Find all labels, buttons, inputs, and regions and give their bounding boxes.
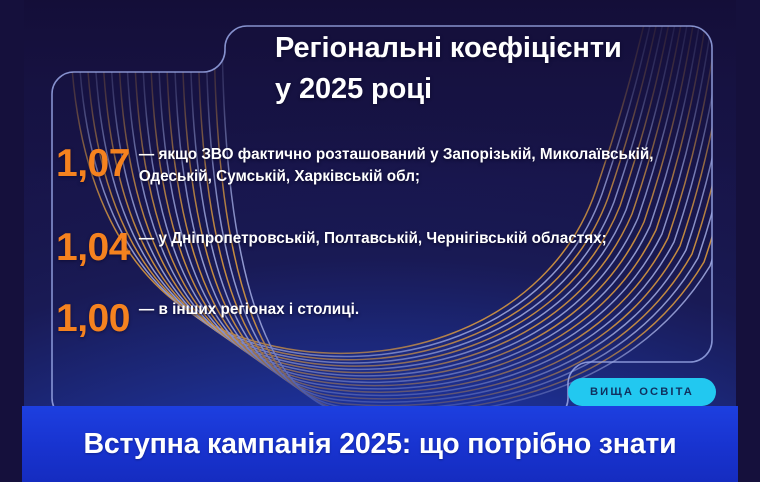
right-dark-edge bbox=[736, 0, 760, 482]
coefficient-description: — в інших регіонах і столиці. bbox=[139, 301, 359, 318]
infographic-root: Регіональні коефіцієнти у 2025 році 1,07… bbox=[0, 0, 760, 482]
headline-line-1: Регіональні коефіцієнти bbox=[275, 28, 715, 69]
coefficient-row: 1,07 — якщо ЗВО фактично розташований у … bbox=[56, 126, 706, 188]
category-badge: ВИЩА ОСВІТА bbox=[568, 378, 716, 406]
coefficient-row: 1,04 — у Дніпропетровській, Полтавській,… bbox=[56, 208, 706, 250]
coefficient-row-body: 1,07 — якщо ЗВО фактично розташований у … bbox=[56, 126, 706, 188]
coefficient-description: — якщо ЗВО фактично розташований у Запор… bbox=[139, 146, 654, 185]
bottom-banner-text: Вступна кампанія 2025: що потрібно знати bbox=[84, 428, 677, 461]
coefficient-row-body: 1,00 — в інших регіонах і столиці. bbox=[56, 273, 706, 321]
coefficient-list: 1,07 — якщо ЗВО фактично розташований у … bbox=[56, 126, 706, 336]
category-badge-label: ВИЩА ОСВІТА bbox=[590, 386, 694, 398]
headline-line-2: у 2025 році bbox=[275, 69, 715, 110]
headline: Регіональні коефіцієнти у 2025 році bbox=[275, 28, 715, 110]
coefficient-value: 1,04 bbox=[56, 230, 130, 266]
bottom-banner: Вступна кампанія 2025: що потрібно знати bbox=[22, 406, 738, 482]
coefficient-value: 1,07 bbox=[56, 146, 130, 182]
left-dark-edge bbox=[0, 0, 24, 482]
coefficient-value: 1,00 bbox=[56, 301, 130, 337]
coefficient-row-body: 1,04 — у Дніпропетровській, Полтавській,… bbox=[56, 208, 706, 250]
coefficient-description: — у Дніпропетровській, Полтавській, Черн… bbox=[139, 230, 607, 247]
coefficient-row: 1,00 — в інших регіонах і столиці. bbox=[56, 273, 706, 321]
